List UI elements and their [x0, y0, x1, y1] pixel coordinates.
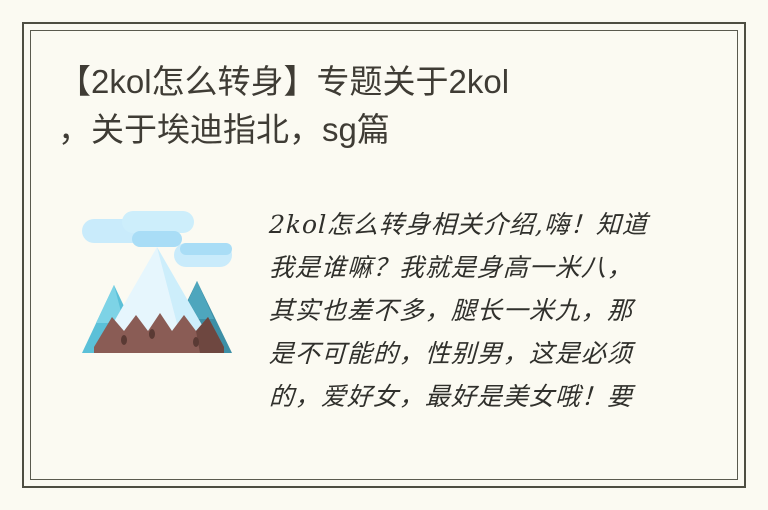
article-body: 2kol怎么转身相关介绍,嗨！知道 我是谁嘛？我就是身高一米八， 其实也差不多，… — [269, 199, 710, 418]
body-line-2: 我是谁嘛？我就是身高一米八， — [268, 246, 711, 289]
page-title: 【2kol怎么转身】专题关于2kol ，关于埃迪指北，sg篇 — [58, 58, 686, 154]
title-line-1: 【2kol怎么转身】专题关于2kol — [58, 58, 686, 106]
body-line-5: 的，爱好女，最好是美女哦！要 — [268, 375, 711, 418]
body-line-3: 其实也差不多，腿长一米九，那 — [268, 289, 711, 332]
body-line-4: 是不可能的，性别男，这是必须 — [268, 332, 711, 375]
body-line-1: 2kol怎么转身相关介绍,嗨！知道 — [268, 203, 711, 246]
mountain-icon — [76, 207, 241, 372]
title-line-2: ，关于埃迪指北，sg篇 — [58, 106, 686, 154]
snow-mountain-illustration — [76, 207, 241, 372]
article-card: 【2kol怎么转身】专题关于2kol ，关于埃迪指北，sg篇 — [22, 22, 746, 488]
content-row: 2kol怎么转身相关介绍,嗨！知道 我是谁嘛？我就是身高一米八， 其实也差不多，… — [58, 199, 710, 418]
